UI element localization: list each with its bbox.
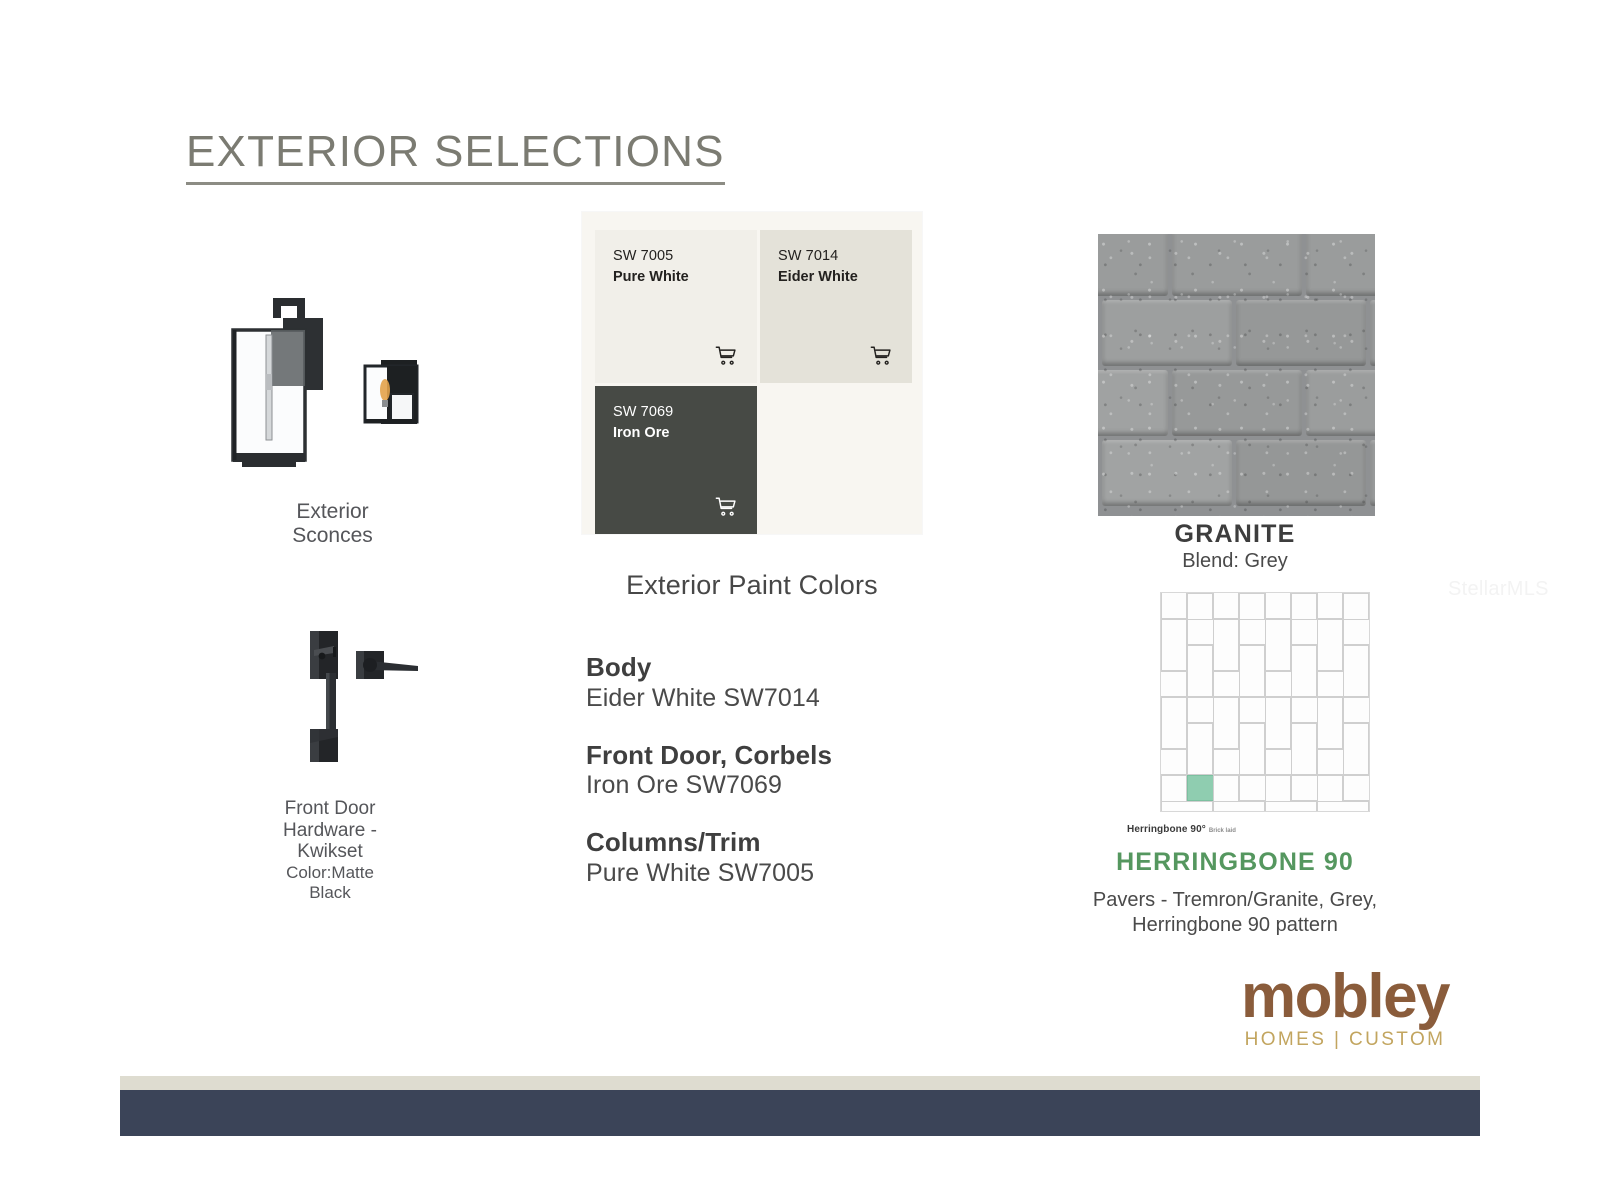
- brand-tagline: HOMES | CUSTOM: [1210, 1029, 1480, 1051]
- sconce-caption-line1: Exterior: [205, 500, 460, 524]
- herringbone-desc-line2: Herringbone 90 pattern: [1050, 913, 1420, 938]
- paint-area-label: Body: [586, 652, 1006, 683]
- paint-colors-heading: Exterior Paint Colors: [582, 570, 922, 601]
- hardware-line2: Hardware -: [245, 820, 415, 842]
- swatch-code: SW 7005: [613, 246, 757, 267]
- paint-area-label: Front Door, Corbels: [586, 740, 1006, 771]
- brand-wordmark: mobley: [1210, 968, 1480, 1027]
- swatch-name: Eider White: [778, 267, 912, 288]
- herringbone-description: Pavers - Tremron/Granite, Grey, Herringb…: [1050, 888, 1420, 938]
- swatch-code: SW 7014: [778, 246, 912, 267]
- granite-blend-label: Blend: Grey: [1060, 550, 1410, 573]
- swatch-code: SW 7069: [613, 402, 757, 423]
- herringbone-diagram-caption: Herringbone 90°Brick laid: [1127, 824, 1236, 835]
- door-hardware-caption: Front Door Hardware - Kwikset Color:Matt…: [245, 798, 415, 902]
- herringbone-desc-line1: Pavers - Tremron/Granite, Grey,: [1050, 888, 1420, 913]
- page-title: EXTERIOR SELECTIONS: [186, 128, 725, 185]
- paint-assignment-item: Front Door, Corbels Iron Ore SW7069: [586, 740, 1006, 801]
- door-hardware-image: [270, 625, 430, 790]
- handleset-lower-plate: [310, 729, 338, 762]
- paint-swatch-eider-white[interactable]: SW 7014 Eider White: [760, 230, 912, 383]
- paint-color-value: Iron Ore SW7069: [586, 770, 1006, 800]
- shopping-cart-icon[interactable]: [715, 345, 737, 367]
- exterior-sconce-image: [205, 290, 455, 505]
- paint-assignment-list: Body Eider White SW7014 Front Door, Corb…: [586, 652, 1006, 888]
- hb-caption-tiny: Brick laid: [1209, 828, 1236, 834]
- granite-title: GRANITE: [1060, 520, 1410, 549]
- paint-swatch-pure-white[interactable]: SW 7005 Pure White: [595, 230, 757, 383]
- paint-assignment-item: Columns/Trim Pure White SW7005: [586, 827, 1006, 888]
- footer-accent-strip: [120, 1076, 1480, 1090]
- hardware-line4: Color:Matte: [245, 863, 415, 883]
- swatch-name: Iron Ore: [613, 423, 757, 444]
- herringbone-pattern-diagram: [1160, 592, 1370, 812]
- mobley-logo: mobley HOMES | CUSTOM: [1210, 968, 1480, 1051]
- sconce-caption-line2: Sconces: [205, 524, 460, 548]
- swatch-name: Pure White: [613, 267, 757, 288]
- granite-paver-photo: [1098, 234, 1375, 516]
- paint-swatch-panel: SW 7005 Pure White SW 7014 Eider White S…: [582, 212, 922, 534]
- sconce-small: [365, 360, 417, 424]
- door-lever: [356, 651, 418, 679]
- hardware-line1: Front Door: [245, 798, 415, 820]
- stellar-mls-watermark: StellarMLS: [1448, 578, 1549, 601]
- paint-color-value: Eider White SW7014: [586, 683, 1006, 713]
- exterior-sconce-caption: Exterior Sconces: [205, 500, 460, 548]
- hb-caption-main: Herringbone 90°: [1127, 824, 1206, 835]
- paint-assignment-item: Body Eider White SW7014: [586, 652, 1006, 713]
- paint-area-label: Columns/Trim: [586, 827, 1006, 858]
- footer-bar: [120, 1090, 1480, 1136]
- shopping-cart-icon[interactable]: [715, 496, 737, 518]
- herringbone-pattern-title: HERRINGBONE 90: [1060, 848, 1410, 877]
- handleset-escutcheon: [310, 631, 338, 679]
- paint-swatch-iron-ore[interactable]: SW 7069 Iron Ore: [595, 386, 757, 534]
- hardware-line5: Black: [245, 883, 415, 903]
- paint-color-value: Pure White SW7005: [586, 858, 1006, 888]
- shopping-cart-icon[interactable]: [870, 345, 892, 367]
- hardware-line3: Kwikset: [245, 841, 415, 863]
- sconce-large: [233, 298, 323, 467]
